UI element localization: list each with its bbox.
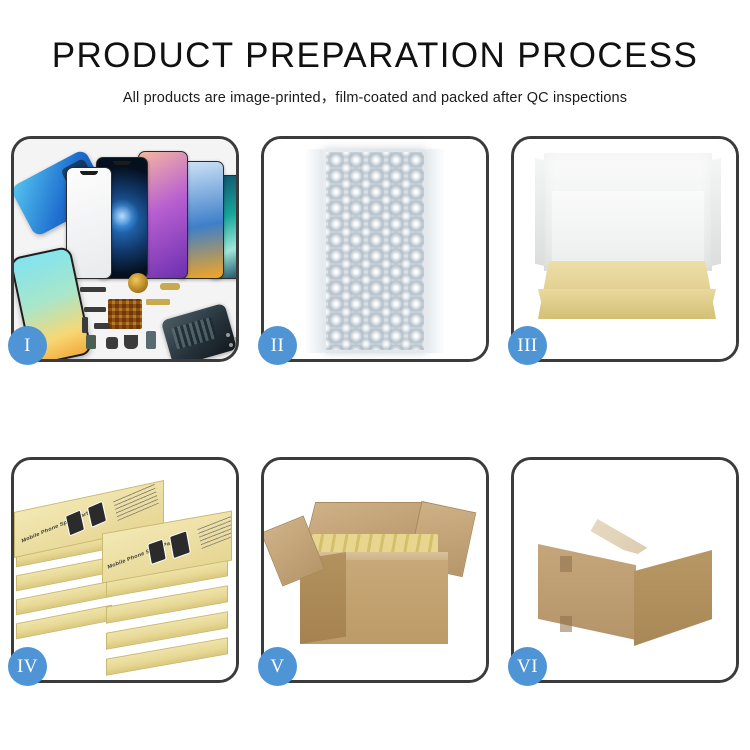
step-badge-2: II — [258, 326, 297, 365]
process-step-grid: I II III — [11, 136, 739, 686]
step-6-image — [514, 460, 736, 680]
process-step-panel-4: Mobile Phone Spare Parts Mobile Phone Sp… — [11, 457, 239, 683]
product-preparation-infographic: PRODUCT PREPARATION PROCESS All products… — [0, 0, 750, 750]
sealed-carton-front — [538, 544, 636, 640]
process-step-panel-6: VI — [511, 457, 739, 683]
speaker-part — [128, 273, 148, 293]
sealed-carton-side — [634, 550, 712, 646]
bracket-part — [84, 307, 106, 312]
button-part — [106, 337, 118, 349]
vibrator-part — [124, 335, 138, 349]
notch-icon — [80, 171, 98, 175]
step-badge-5: V — [258, 647, 297, 686]
step-4-image: Mobile Phone Spare Parts Mobile Phone Sp… — [14, 460, 236, 680]
process-step-panel-5: V — [261, 457, 489, 683]
step-badge-1: I — [8, 326, 47, 365]
process-step-panel-1: I — [11, 136, 239, 362]
flex-cable-part — [160, 283, 180, 290]
box-stack: Mobile Phone Spare Parts Mobile Phone Sp… — [14, 478, 236, 668]
carton-seam — [560, 616, 572, 632]
step-badge-3: III — [508, 326, 547, 365]
step-2-image — [264, 139, 486, 359]
step-3-image — [514, 139, 736, 359]
clip-part — [94, 323, 110, 329]
carton-seam — [560, 556, 572, 572]
sealed-carton-top — [538, 488, 710, 554]
step-5-image — [264, 460, 486, 680]
phone-chassis — [161, 303, 236, 359]
pin-part — [82, 317, 88, 333]
connector-part — [80, 287, 106, 292]
bubble-pattern-offset — [326, 152, 424, 350]
spare-parts-group — [80, 271, 236, 359]
page-subtitle: All products are image-printed，film-coat… — [0, 86, 750, 107]
sim-tray-part — [146, 331, 156, 349]
step-badge-6: VI — [508, 647, 547, 686]
camera-part — [86, 335, 96, 349]
process-step-panel-2: II — [261, 136, 489, 362]
bubble-wrap-package — [323, 149, 427, 353]
screws-group — [226, 333, 236, 349]
ribbon-part — [146, 299, 170, 305]
notch-icon — [113, 161, 131, 165]
foam-padding — [552, 191, 704, 269]
step-1-image — [14, 139, 236, 359]
header: PRODUCT PREPARATION PROCESS All products… — [0, 0, 750, 107]
chip-array-part — [108, 299, 142, 329]
page-title: PRODUCT PREPARATION PROCESS — [0, 38, 750, 75]
process-step-panel-3: III — [511, 136, 739, 362]
step-badge-4: IV — [8, 647, 47, 686]
phone-screen-fan — [66, 147, 236, 279]
inner-box-front — [538, 289, 716, 319]
